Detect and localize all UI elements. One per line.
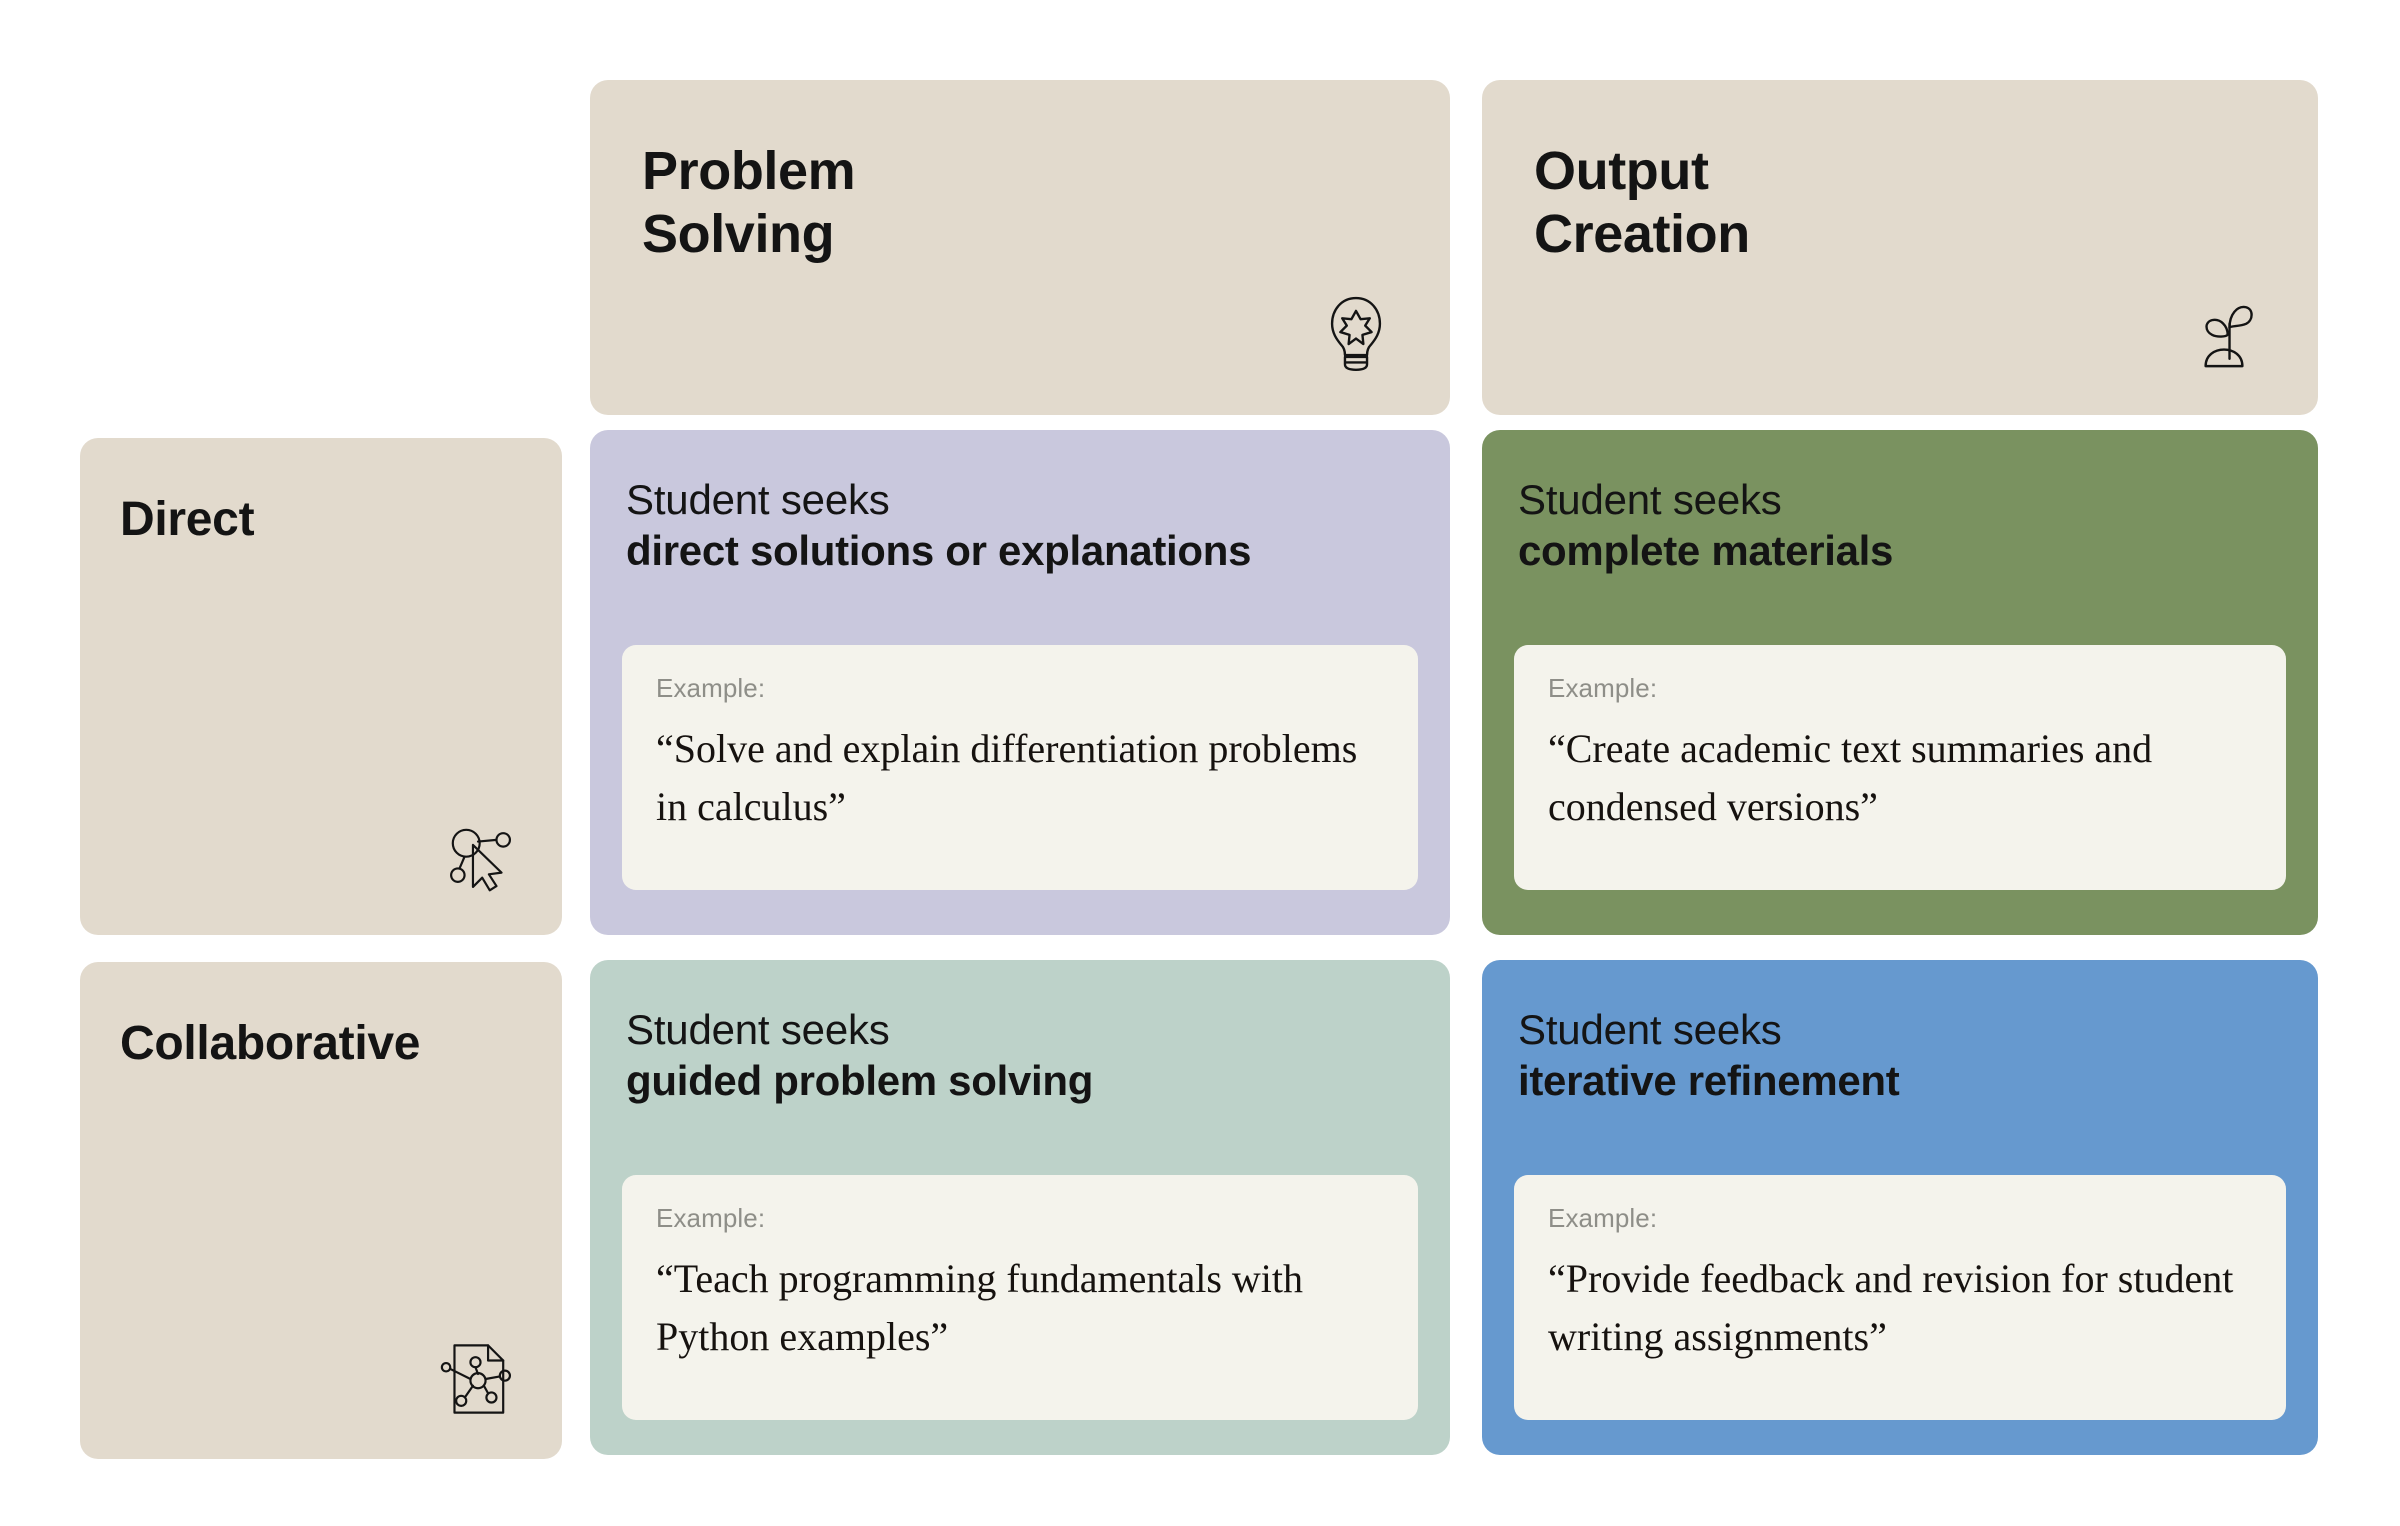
cell-heading: Student seeks complete materials bbox=[1518, 474, 2286, 576]
cell-heading-lead: Student seeks bbox=[1518, 474, 2286, 525]
interaction-matrix: Problem Solving Output Creation Direct bbox=[0, 0, 2400, 1526]
example-box: Example: “Create academic text summaries… bbox=[1514, 645, 2286, 890]
example-label: Example: bbox=[656, 673, 1384, 704]
cell-heading-focus: complete materials bbox=[1518, 525, 2286, 576]
cell-heading-lead: Student seeks bbox=[626, 1004, 1418, 1055]
column-header-output-creation: Output Creation bbox=[1482, 80, 2318, 415]
document-network-icon bbox=[436, 1337, 520, 1421]
example-label: Example: bbox=[656, 1203, 1384, 1234]
cell-heading-lead: Student seeks bbox=[1518, 1004, 2286, 1055]
cell-collaborative-output-creation: Student seeks iterative refinement Examp… bbox=[1482, 960, 2318, 1455]
column-title: Output Creation bbox=[1534, 140, 2318, 265]
example-box: Example: “Teach programming fundamentals… bbox=[622, 1175, 1418, 1420]
column-header-problem-solving: Problem Solving bbox=[590, 80, 1450, 415]
cell-collaborative-problem-solving: Student seeks guided problem solving Exa… bbox=[590, 960, 1450, 1455]
cell-heading: Student seeks direct solutions or explan… bbox=[626, 474, 1418, 576]
example-quote: “Teach programming fundamentals with Pyt… bbox=[656, 1250, 1384, 1365]
row-label-direct: Direct bbox=[80, 438, 562, 935]
row-label-collaborative: Collaborative bbox=[80, 962, 562, 1459]
example-box: Example: “Solve and explain differentiat… bbox=[622, 645, 1418, 890]
cell-heading: Student seeks iterative refinement bbox=[1518, 1004, 2286, 1106]
cursor-network-icon bbox=[436, 813, 520, 897]
cell-heading-lead: Student seeks bbox=[626, 474, 1418, 525]
example-quote: “Create academic text summaries and cond… bbox=[1548, 720, 2252, 835]
example-quote: “Solve and explain differentiation probl… bbox=[656, 720, 1384, 835]
cell-heading-focus: direct solutions or explanations bbox=[626, 525, 1418, 576]
cell-direct-problem-solving: Student seeks direct solutions or explan… bbox=[590, 430, 1450, 935]
cell-direct-output-creation: Student seeks complete materials Example… bbox=[1482, 430, 2318, 935]
row-title: Collaborative bbox=[120, 1018, 562, 1071]
lightbulb-icon bbox=[1310, 287, 1402, 379]
example-label: Example: bbox=[1548, 1203, 2252, 1234]
example-box: Example: “Provide feedback and revision … bbox=[1514, 1175, 2286, 1420]
cell-heading: Student seeks guided problem solving bbox=[626, 1004, 1418, 1106]
cell-heading-focus: iterative refinement bbox=[1518, 1055, 2286, 1106]
cell-heading-focus: guided problem solving bbox=[626, 1055, 1418, 1106]
example-quote: “Provide feedback and revision for stude… bbox=[1548, 1250, 2252, 1365]
example-label: Example: bbox=[1548, 673, 2252, 704]
sprout-icon bbox=[2178, 287, 2270, 379]
row-title: Direct bbox=[120, 494, 562, 547]
column-title: Problem Solving bbox=[642, 140, 1450, 265]
